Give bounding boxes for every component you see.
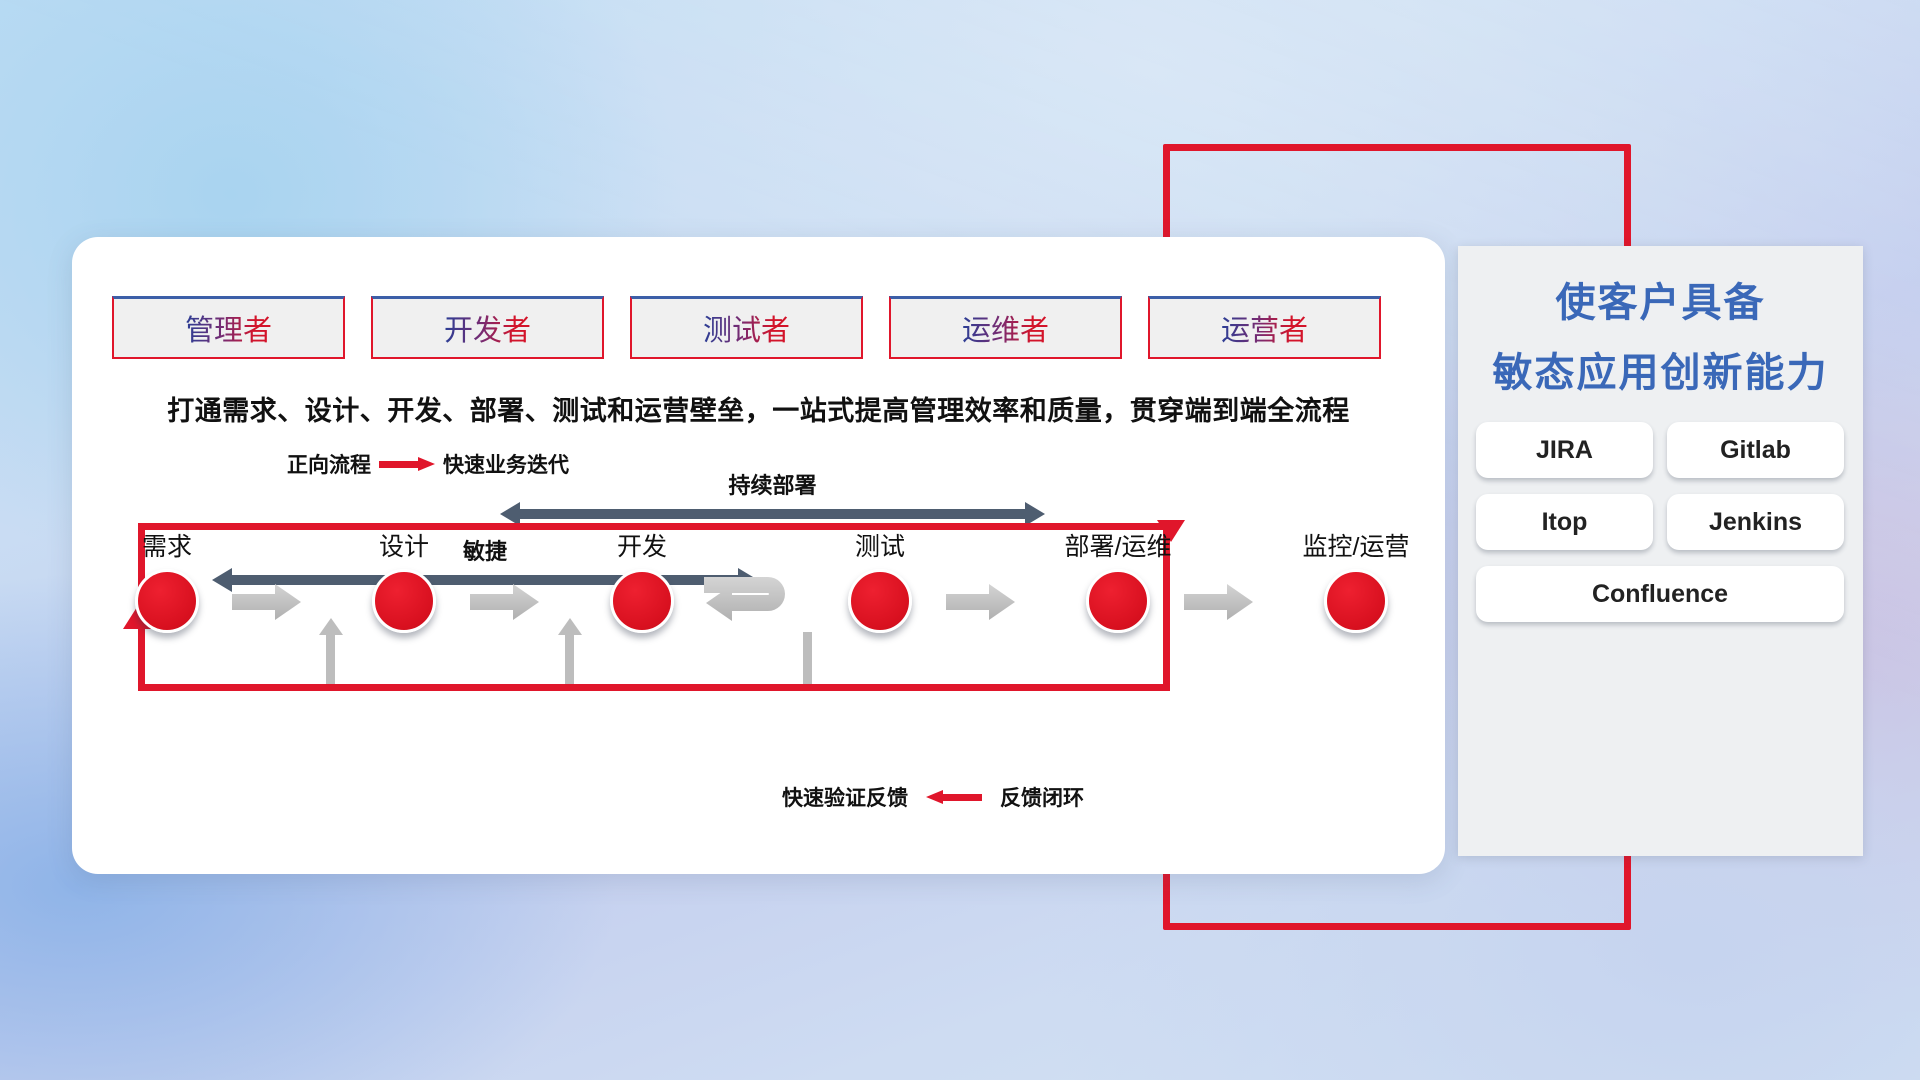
pipeline-node-label: 测试 [855, 527, 905, 563]
feedback-arrow-icon [926, 790, 982, 804]
feedback-closed-loop-label: 反馈闭环 [1000, 782, 1084, 812]
continuous-deployment-label: 持续部署 [500, 468, 1045, 500]
role-label: 运营者 [1221, 307, 1308, 349]
pipeline-node-label: 开发 [617, 527, 667, 563]
node-stem-head-icon [558, 618, 582, 635]
forward-arrow-icon [379, 457, 435, 471]
main-card: 管理者 开发者 测试者 运维者 运营者 打通需求、设计、开发、部署、测试和运营壁… [72, 237, 1445, 874]
description-text: 打通需求、设计、开发、部署、测试和运营壁垒，一站式提高管理效率和质量，贯穿端到端… [112, 389, 1405, 428]
flow-arrow-icon [1184, 583, 1254, 621]
flow-arrow-icon [232, 583, 302, 621]
flow-arrow-icon [946, 583, 1016, 621]
tool-card-gitlab[interactable]: Gitlab [1667, 422, 1844, 478]
pipeline-node-label: 部署/运维 [1065, 527, 1172, 563]
slide-canvas: 管理者 开发者 测试者 运维者 运营者 打通需求、设计、开发、部署、测试和运营壁… [0, 0, 1920, 1080]
pipeline-node-design[interactable] [372, 569, 436, 633]
pipeline-node-label: 监控/运营 [1303, 527, 1410, 563]
role-box-developer[interactable]: 开发者 [371, 296, 604, 359]
fast-verification-label: 快速验证反馈 [782, 782, 908, 812]
tools-panel: 使客户具备 敏态应用创新能力 JIRA Gitlab Itop Jenkins … [1458, 246, 1863, 856]
pipeline-node-monitor-operations[interactable] [1324, 569, 1388, 633]
tool-card-confluence[interactable]: Confluence [1476, 566, 1844, 622]
pipeline-node-deploy-ops[interactable] [1086, 569, 1150, 633]
node-stem [565, 632, 574, 684]
pipeline-node-requirement[interactable] [135, 569, 199, 633]
role-label: 测试者 [703, 307, 790, 349]
pipeline-node-label: 设计 [379, 527, 429, 563]
role-label: 运维者 [962, 307, 1049, 349]
flow-arrow-icon [470, 583, 540, 621]
node-stem-head-icon [319, 618, 343, 635]
tool-card-jenkins[interactable]: Jenkins [1667, 494, 1844, 550]
panel-title-line2: 敏态应用创新能力 [1458, 340, 1863, 398]
tool-card-itop[interactable]: Itop [1476, 494, 1653, 550]
iteration-uturn-arrow-icon [702, 575, 812, 642]
pipeline-node-test[interactable] [848, 569, 912, 633]
role-boxes: 管理者 开发者 测试者 运维者 运营者 [112, 296, 1381, 359]
pipeline-node-develop[interactable] [610, 569, 674, 633]
tool-card-jira[interactable]: JIRA [1476, 422, 1653, 478]
tool-list: JIRA Gitlab Itop Jenkins Confluence [1458, 422, 1863, 622]
node-stem [326, 632, 335, 684]
role-label: 开发者 [444, 307, 531, 349]
feedback-loop-legend: 快速验证反馈 反馈闭环 [782, 782, 1084, 812]
role-label: 管理者 [185, 307, 272, 349]
pipeline-node-label: 需求 [142, 527, 192, 563]
panel-title-line1: 使客户具备 [1458, 270, 1863, 328]
role-box-tester[interactable]: 测试者 [630, 296, 863, 359]
role-box-manager[interactable]: 管理者 [112, 296, 345, 359]
forward-flow-label: 正向流程 [287, 449, 371, 479]
role-box-ops[interactable]: 运维者 [889, 296, 1122, 359]
role-box-operations[interactable]: 运营者 [1148, 296, 1381, 359]
